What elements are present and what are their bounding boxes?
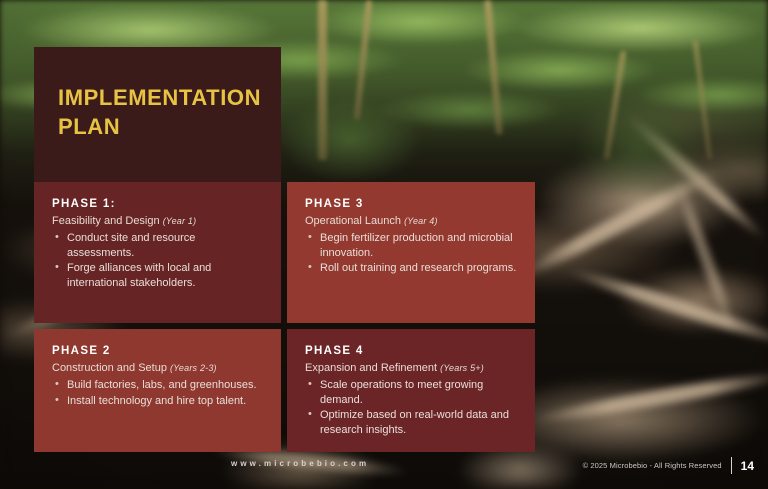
phase-1-years: (Year 1) — [163, 216, 197, 226]
phase-2-years: (Years 2-3) — [170, 363, 217, 373]
footer-right-group: © 2025 Microbebio - All Rights Reserved … — [583, 457, 754, 474]
list-item: Optimize based on real-world data and re… — [305, 408, 517, 437]
footer-website-link[interactable]: www.microbebio.com — [231, 459, 369, 468]
phase-card-4[interactable]: PHASE 4 Expansion and Refinement (Years … — [287, 329, 535, 452]
phase-4-bullets: Scale operations to meet growing demand.… — [305, 378, 517, 437]
phase-4-title: PHASE 4 — [305, 345, 517, 357]
page-title: IMPLEMENTATION PLAN — [58, 83, 265, 141]
list-item: Install technology and hire top talent. — [52, 394, 263, 409]
phase-3-subtitle-text: Operational Launch — [305, 215, 401, 227]
footer-divider — [731, 457, 732, 474]
phase-card-3[interactable]: PHASE 3 Operational Launch (Year 4) Begi… — [287, 182, 535, 323]
phase-card-2[interactable]: PHASE 2 Construction and Setup (Years 2-… — [34, 329, 281, 452]
phase-2-subtitle-text: Construction and Setup — [52, 362, 167, 374]
footer-page-number: 14 — [741, 459, 754, 473]
phase-1-title: PHASE 1: — [52, 198, 263, 210]
phase-2-subtitle: Construction and Setup (Years 2-3) — [52, 361, 263, 375]
list-item: Build factories, labs, and greenhouses. — [52, 378, 263, 393]
phase-1-subtitle-text: Feasibility and Design — [52, 215, 160, 227]
phase-card-1[interactable]: PHASE 1: Feasibility and Design (Year 1)… — [34, 182, 281, 323]
presentation-slide: IMPLEMENTATION PLAN PHASE 1: Feasibility… — [0, 0, 768, 489]
phase-3-years: (Year 4) — [404, 216, 438, 226]
phase-grid: PHASE 1: Feasibility and Design (Year 1)… — [34, 182, 535, 452]
footer-copyright: © 2025 Microbebio - All Rights Reserved — [583, 461, 722, 470]
list-item: Scale operations to meet growing demand. — [305, 378, 517, 407]
phase-4-subtitle-text: Expansion and Refinement — [305, 362, 437, 374]
phase-3-bullets: Begin fertilizer production and microbia… — [305, 231, 517, 276]
phase-2-bullets: Build factories, labs, and greenhouses. … — [52, 378, 263, 408]
list-item: Conduct site and resource assessments. — [52, 231, 263, 260]
title-panel: IMPLEMENTATION PLAN — [34, 47, 281, 182]
list-item: Begin fertilizer production and microbia… — [305, 231, 517, 260]
phase-1-bullets: Conduct site and resource assessments. F… — [52, 231, 263, 290]
phase-4-subtitle: Expansion and Refinement (Years 5+) — [305, 361, 517, 375]
phase-3-subtitle: Operational Launch (Year 4) — [305, 214, 517, 228]
phase-3-title: PHASE 3 — [305, 198, 517, 210]
phase-4-years: (Years 5+) — [440, 363, 484, 373]
list-item: Forge alliances with local and internati… — [52, 261, 263, 290]
phase-2-title: PHASE 2 — [52, 345, 263, 357]
phase-1-subtitle: Feasibility and Design (Year 1) — [52, 214, 263, 228]
list-item: Roll out training and research programs. — [305, 261, 517, 276]
